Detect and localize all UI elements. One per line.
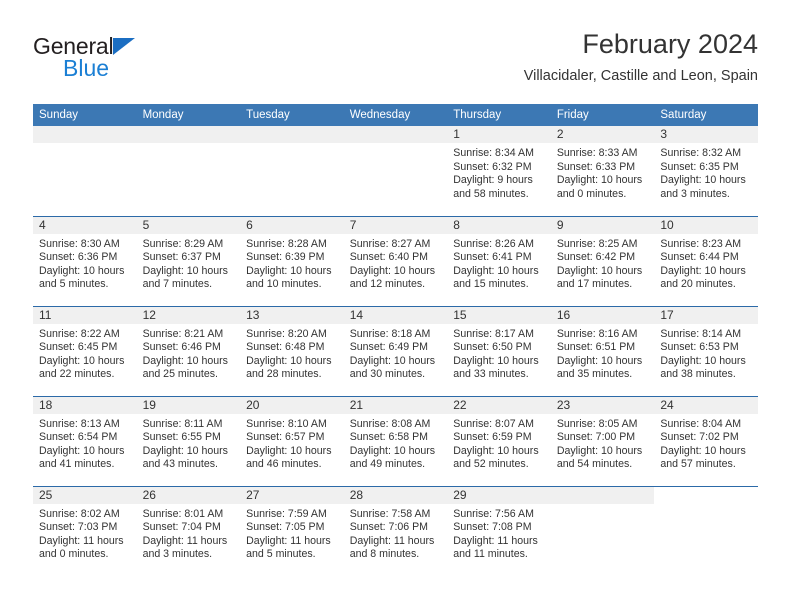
- daylight-text-line1: Daylight: 10 hours: [246, 355, 339, 369]
- sunset-text: Sunset: 7:02 PM: [660, 431, 753, 445]
- calendar-day-cell[interactable]: 17Sunrise: 8:14 AMSunset: 6:53 PMDayligh…: [654, 306, 758, 396]
- sunrise-text: Sunrise: 7:56 AM: [453, 508, 546, 522]
- sunrise-text: Sunrise: 8:16 AM: [557, 328, 650, 342]
- daylight-text-line1: Daylight: 10 hours: [350, 355, 443, 369]
- daylight-text-line1: Daylight: 11 hours: [453, 535, 546, 549]
- day-number: 10: [654, 217, 758, 234]
- sunrise-text: Sunrise: 7:59 AM: [246, 508, 339, 522]
- calendar-day-cell[interactable]: 5Sunrise: 8:29 AMSunset: 6:37 PMDaylight…: [137, 216, 241, 306]
- day-number: 21: [344, 397, 448, 414]
- weekday-header-wednesday: Wednesday: [344, 104, 448, 126]
- sunrise-text: Sunrise: 8:34 AM: [453, 147, 546, 161]
- calendar-day-cell[interactable]: 27Sunrise: 7:59 AMSunset: 7:05 PMDayligh…: [240, 486, 344, 576]
- day-number: 15: [447, 307, 551, 324]
- daylight-text-line2: and 33 minutes.: [453, 368, 546, 382]
- daylight-text-line1: Daylight: 10 hours: [143, 265, 236, 279]
- sunset-text: Sunset: 6:35 PM: [660, 161, 753, 175]
- sunset-text: Sunset: 6:32 PM: [453, 161, 546, 175]
- daylight-text-line1: Daylight: 10 hours: [557, 355, 650, 369]
- daylight-text-line1: Daylight: 10 hours: [453, 355, 546, 369]
- daylight-text-line1: Daylight: 10 hours: [660, 355, 753, 369]
- day-info: Sunrise: 7:58 AMSunset: 7:06 PMDaylight:…: [344, 504, 448, 562]
- day-number: [344, 126, 448, 143]
- day-info: Sunrise: 8:22 AMSunset: 6:45 PMDaylight:…: [33, 324, 137, 382]
- daylight-text-line2: and 35 minutes.: [557, 368, 650, 382]
- sunrise-text: Sunrise: 8:27 AM: [350, 238, 443, 252]
- daylight-text-line2: and 8 minutes.: [350, 548, 443, 562]
- page-subtitle: Villacidaler, Castille and Leon, Spain: [524, 66, 758, 86]
- day-info: Sunrise: 8:21 AMSunset: 6:46 PMDaylight:…: [137, 324, 241, 382]
- weekday-header-thursday: Thursday: [447, 104, 551, 126]
- daylight-text-line2: and 5 minutes.: [39, 278, 132, 292]
- daylight-text-line1: Daylight: 10 hours: [453, 265, 546, 279]
- sunset-text: Sunset: 6:33 PM: [557, 161, 650, 175]
- sunset-text: Sunset: 7:06 PM: [350, 521, 443, 535]
- daylight-text-line1: Daylight: 10 hours: [246, 265, 339, 279]
- day-number: 20: [240, 397, 344, 414]
- sunrise-text: Sunrise: 8:05 AM: [557, 418, 650, 432]
- calendar-week-row: 25Sunrise: 8:02 AMSunset: 7:03 PMDayligh…: [33, 486, 758, 576]
- calendar-day-cell[interactable]: 9Sunrise: 8:25 AMSunset: 6:42 PMDaylight…: [551, 216, 655, 306]
- calendar-day-cell[interactable]: 3Sunrise: 8:32 AMSunset: 6:35 PMDaylight…: [654, 126, 758, 216]
- sunset-text: Sunset: 6:41 PM: [453, 251, 546, 265]
- calendar-day-cell[interactable]: 12Sunrise: 8:21 AMSunset: 6:46 PMDayligh…: [137, 306, 241, 396]
- day-number: 6: [240, 217, 344, 234]
- daylight-text-line2: and 17 minutes.: [557, 278, 650, 292]
- daylight-text-line2: and 25 minutes.: [143, 368, 236, 382]
- daylight-text-line2: and 3 minutes.: [143, 548, 236, 562]
- day-info: Sunrise: 8:02 AMSunset: 7:03 PMDaylight:…: [33, 504, 137, 562]
- daylight-text-line2: and 3 minutes.: [660, 188, 753, 202]
- sunset-text: Sunset: 6:39 PM: [246, 251, 339, 265]
- sunset-text: Sunset: 6:54 PM: [39, 431, 132, 445]
- sunrise-text: Sunrise: 8:26 AM: [453, 238, 546, 252]
- day-number: 24: [654, 397, 758, 414]
- daylight-text-line1: Daylight: 10 hours: [39, 445, 132, 459]
- day-info: Sunrise: 8:11 AMSunset: 6:55 PMDaylight:…: [137, 414, 241, 472]
- day-info: Sunrise: 8:17 AMSunset: 6:50 PMDaylight:…: [447, 324, 551, 382]
- sunrise-text: Sunrise: 8:29 AM: [143, 238, 236, 252]
- page-title: February 2024: [524, 28, 758, 60]
- daylight-text-line2: and 57 minutes.: [660, 458, 753, 472]
- daylight-text-line1: Daylight: 10 hours: [557, 174, 650, 188]
- daylight-text-line1: Daylight: 11 hours: [350, 535, 443, 549]
- day-number: 12: [137, 307, 241, 324]
- day-number: 25: [33, 487, 137, 504]
- day-info: Sunrise: 7:56 AMSunset: 7:08 PMDaylight:…: [447, 504, 551, 562]
- day-info: Sunrise: 8:25 AMSunset: 6:42 PMDaylight:…: [551, 234, 655, 292]
- calendar-week-row: 18Sunrise: 8:13 AMSunset: 6:54 PMDayligh…: [33, 396, 758, 486]
- sunrise-text: Sunrise: 8:14 AM: [660, 328, 753, 342]
- daylight-text-line2: and 28 minutes.: [246, 368, 339, 382]
- sunset-text: Sunset: 7:00 PM: [557, 431, 650, 445]
- title-block: February 2024 Villacidaler, Castille and…: [524, 28, 758, 86]
- daylight-text-line1: Daylight: 10 hours: [143, 445, 236, 459]
- calendar-day-cell[interactable]: 15Sunrise: 8:17 AMSunset: 6:50 PMDayligh…: [447, 306, 551, 396]
- daylight-text-line1: Daylight: 10 hours: [143, 355, 236, 369]
- day-number: 4: [33, 217, 137, 234]
- calendar-day-cell[interactable]: 8Sunrise: 8:26 AMSunset: 6:41 PMDaylight…: [447, 216, 551, 306]
- day-info: Sunrise: 8:14 AMSunset: 6:53 PMDaylight:…: [654, 324, 758, 382]
- day-info: Sunrise: 8:10 AMSunset: 6:57 PMDaylight:…: [240, 414, 344, 472]
- day-number: 9: [551, 217, 655, 234]
- sunset-text: Sunset: 6:46 PM: [143, 341, 236, 355]
- day-number: 14: [344, 307, 448, 324]
- daylight-text-line1: Daylight: 11 hours: [39, 535, 132, 549]
- sunset-text: Sunset: 6:48 PM: [246, 341, 339, 355]
- daylight-text-line2: and 38 minutes.: [660, 368, 753, 382]
- daylight-text-line2: and 7 minutes.: [143, 278, 236, 292]
- day-number: 27: [240, 487, 344, 504]
- calendar-day-cell[interactable]: 11Sunrise: 8:22 AMSunset: 6:45 PMDayligh…: [33, 306, 137, 396]
- calendar-page: General Blue February 2024 Villacidaler,…: [0, 0, 792, 612]
- daylight-text-line1: Daylight: 10 hours: [350, 265, 443, 279]
- daylight-text-line2: and 52 minutes.: [453, 458, 546, 472]
- daylight-text-line2: and 10 minutes.: [246, 278, 339, 292]
- calendar-day-cell[interactable]: 6Sunrise: 8:28 AMSunset: 6:39 PMDaylight…: [240, 216, 344, 306]
- calendar-day-cell[interactable]: 10Sunrise: 8:23 AMSunset: 6:44 PMDayligh…: [654, 216, 758, 306]
- sunrise-text: Sunrise: 8:21 AM: [143, 328, 236, 342]
- day-info: Sunrise: 8:05 AMSunset: 7:00 PMDaylight:…: [551, 414, 655, 472]
- day-number: 16: [551, 307, 655, 324]
- daylight-text-line2: and 46 minutes.: [246, 458, 339, 472]
- logo-triangle-icon: [113, 38, 135, 55]
- daylight-text-line2: and 30 minutes.: [350, 368, 443, 382]
- logo-text-blue: Blue: [63, 56, 203, 80]
- day-number: 11: [33, 307, 137, 324]
- daylight-text-line2: and 49 minutes.: [350, 458, 443, 472]
- daylight-text-line2: and 54 minutes.: [557, 458, 650, 472]
- day-info: Sunrise: 8:01 AMSunset: 7:04 PMDaylight:…: [137, 504, 241, 562]
- general-blue-logo: General Blue: [33, 34, 203, 86]
- sunset-text: Sunset: 6:57 PM: [246, 431, 339, 445]
- page-header: General Blue February 2024 Villacidaler,…: [33, 28, 758, 96]
- day-info: Sunrise: 8:07 AMSunset: 6:59 PMDaylight:…: [447, 414, 551, 472]
- calendar-day-cell[interactable]: 29Sunrise: 7:56 AMSunset: 7:08 PMDayligh…: [447, 486, 551, 576]
- day-number: 26: [137, 487, 241, 504]
- sunrise-text: Sunrise: 8:30 AM: [39, 238, 132, 252]
- weekday-header-sunday: Sunday: [33, 104, 137, 126]
- daylight-text-line2: and 58 minutes.: [453, 188, 546, 202]
- sunset-text: Sunset: 7:05 PM: [246, 521, 339, 535]
- sunrise-text: Sunrise: 8:11 AM: [143, 418, 236, 432]
- day-number: [551, 487, 655, 504]
- calendar-day-cell[interactable]: 2Sunrise: 8:33 AMSunset: 6:33 PMDaylight…: [551, 126, 655, 216]
- day-info: Sunrise: 8:29 AMSunset: 6:37 PMDaylight:…: [137, 234, 241, 292]
- day-number: 28: [344, 487, 448, 504]
- daylight-text-line1: Daylight: 11 hours: [143, 535, 236, 549]
- sunrise-text: Sunrise: 8:20 AM: [246, 328, 339, 342]
- daylight-text-line1: Daylight: 10 hours: [453, 445, 546, 459]
- day-number: 7: [344, 217, 448, 234]
- calendar-day-cell[interactable]: 26Sunrise: 8:01 AMSunset: 7:04 PMDayligh…: [137, 486, 241, 576]
- calendar-day-cell[interactable]: 23Sunrise: 8:05 AMSunset: 7:00 PMDayligh…: [551, 396, 655, 486]
- calendar-day-cell[interactable]: 4Sunrise: 8:30 AMSunset: 6:36 PMDaylight…: [33, 216, 137, 306]
- day-number: 13: [240, 307, 344, 324]
- day-number: 2: [551, 126, 655, 143]
- daylight-text-line2: and 12 minutes.: [350, 278, 443, 292]
- daylight-text-line2: and 11 minutes.: [453, 548, 546, 562]
- day-number: [33, 126, 137, 143]
- calendar-day-cell[interactable]: 18Sunrise: 8:13 AMSunset: 6:54 PMDayligh…: [33, 396, 137, 486]
- sunrise-text: Sunrise: 8:22 AM: [39, 328, 132, 342]
- sunset-text: Sunset: 7:08 PM: [453, 521, 546, 535]
- calendar-day-cell[interactable]: 28Sunrise: 7:58 AMSunset: 7:06 PMDayligh…: [344, 486, 448, 576]
- calendar-day-cell[interactable]: 25Sunrise: 8:02 AMSunset: 7:03 PMDayligh…: [33, 486, 137, 576]
- daylight-text-line2: and 22 minutes.: [39, 368, 132, 382]
- day-number: 22: [447, 397, 551, 414]
- day-number: 17: [654, 307, 758, 324]
- sunrise-text: Sunrise: 8:07 AM: [453, 418, 546, 432]
- calendar-week-row: 4Sunrise: 8:30 AMSunset: 6:36 PMDaylight…: [33, 216, 758, 306]
- daylight-text-line2: and 15 minutes.: [453, 278, 546, 292]
- daylight-text-line1: Daylight: 10 hours: [246, 445, 339, 459]
- sunset-text: Sunset: 6:53 PM: [660, 341, 753, 355]
- day-number: 8: [447, 217, 551, 234]
- day-number: 19: [137, 397, 241, 414]
- weekday-header-tuesday: Tuesday: [240, 104, 344, 126]
- daylight-text-line2: and 0 minutes.: [557, 188, 650, 202]
- sunset-text: Sunset: 6:49 PM: [350, 341, 443, 355]
- day-number: [137, 126, 241, 143]
- calendar-day-cell[interactable]: 24Sunrise: 8:04 AMSunset: 7:02 PMDayligh…: [654, 396, 758, 486]
- daylight-text-line1: Daylight: 10 hours: [39, 265, 132, 279]
- day-info: Sunrise: 8:28 AMSunset: 6:39 PMDaylight:…: [240, 234, 344, 292]
- sunrise-text: Sunrise: 8:01 AM: [143, 508, 236, 522]
- sunset-text: Sunset: 6:59 PM: [453, 431, 546, 445]
- day-info: Sunrise: 8:20 AMSunset: 6:48 PMDaylight:…: [240, 324, 344, 382]
- day-number: 5: [137, 217, 241, 234]
- day-info: Sunrise: 8:23 AMSunset: 6:44 PMDaylight:…: [654, 234, 758, 292]
- daylight-text-line1: Daylight: 10 hours: [39, 355, 132, 369]
- calendar-empty-cell: [344, 126, 448, 216]
- day-info: Sunrise: 8:30 AMSunset: 6:36 PMDaylight:…: [33, 234, 137, 292]
- sunset-text: Sunset: 6:51 PM: [557, 341, 650, 355]
- sunrise-text: Sunrise: 8:32 AM: [660, 147, 753, 161]
- calendar-empty-cell: [137, 126, 241, 216]
- sunset-text: Sunset: 6:42 PM: [557, 251, 650, 265]
- sunrise-text: Sunrise: 7:58 AM: [350, 508, 443, 522]
- day-number: 1: [447, 126, 551, 143]
- calendar-table: Sunday Monday Tuesday Wednesday Thursday…: [33, 104, 758, 576]
- sunset-text: Sunset: 6:50 PM: [453, 341, 546, 355]
- sunrise-text: Sunrise: 8:17 AM: [453, 328, 546, 342]
- calendar-day-cell[interactable]: 22Sunrise: 8:07 AMSunset: 6:59 PMDayligh…: [447, 396, 551, 486]
- daylight-text-line2: and 20 minutes.: [660, 278, 753, 292]
- calendar-day-cell[interactable]: 14Sunrise: 8:18 AMSunset: 6:49 PMDayligh…: [344, 306, 448, 396]
- sunset-text: Sunset: 6:45 PM: [39, 341, 132, 355]
- daylight-text-line2: and 41 minutes.: [39, 458, 132, 472]
- day-info: Sunrise: 8:27 AMSunset: 6:40 PMDaylight:…: [344, 234, 448, 292]
- calendar-day-cell[interactable]: 19Sunrise: 8:11 AMSunset: 6:55 PMDayligh…: [137, 396, 241, 486]
- sunrise-text: Sunrise: 8:23 AM: [660, 238, 753, 252]
- weekday-header-saturday: Saturday: [654, 104, 758, 126]
- sunrise-text: Sunrise: 8:13 AM: [39, 418, 132, 432]
- calendar-day-cell[interactable]: 13Sunrise: 8:20 AMSunset: 6:48 PMDayligh…: [240, 306, 344, 396]
- day-number: 23: [551, 397, 655, 414]
- daylight-text-line1: Daylight: 10 hours: [660, 265, 753, 279]
- sunset-text: Sunset: 6:36 PM: [39, 251, 132, 265]
- calendar-empty-cell: [551, 486, 655, 576]
- sunset-text: Sunset: 6:44 PM: [660, 251, 753, 265]
- daylight-text-line1: Daylight: 10 hours: [557, 265, 650, 279]
- calendar-empty-cell: [240, 126, 344, 216]
- calendar-day-cell[interactable]: 21Sunrise: 8:08 AMSunset: 6:58 PMDayligh…: [344, 396, 448, 486]
- day-number: 3: [654, 126, 758, 143]
- day-info: Sunrise: 8:18 AMSunset: 6:49 PMDaylight:…: [344, 324, 448, 382]
- daylight-text-line1: Daylight: 10 hours: [557, 445, 650, 459]
- calendar-empty-cell: [654, 486, 758, 576]
- calendar-empty-cell: [33, 126, 137, 216]
- calendar-day-cell[interactable]: 20Sunrise: 8:10 AMSunset: 6:57 PMDayligh…: [240, 396, 344, 486]
- day-info: Sunrise: 8:32 AMSunset: 6:35 PMDaylight:…: [654, 143, 758, 201]
- sunset-text: Sunset: 6:55 PM: [143, 431, 236, 445]
- sunset-text: Sunset: 6:37 PM: [143, 251, 236, 265]
- day-info: Sunrise: 8:26 AMSunset: 6:41 PMDaylight:…: [447, 234, 551, 292]
- calendar-day-cell[interactable]: 1Sunrise: 8:34 AMSunset: 6:32 PMDaylight…: [447, 126, 551, 216]
- weekday-header-friday: Friday: [551, 104, 655, 126]
- sunset-text: Sunset: 6:58 PM: [350, 431, 443, 445]
- day-number: 18: [33, 397, 137, 414]
- day-info: Sunrise: 7:59 AMSunset: 7:05 PMDaylight:…: [240, 504, 344, 562]
- daylight-text-line1: Daylight: 10 hours: [660, 174, 753, 188]
- weekday-header-monday: Monday: [137, 104, 241, 126]
- day-info: Sunrise: 8:04 AMSunset: 7:02 PMDaylight:…: [654, 414, 758, 472]
- daylight-text-line1: Daylight: 11 hours: [246, 535, 339, 549]
- daylight-text-line1: Daylight: 10 hours: [660, 445, 753, 459]
- day-number: [240, 126, 344, 143]
- sunrise-text: Sunrise: 8:25 AM: [557, 238, 650, 252]
- calendar-body: 1Sunrise: 8:34 AMSunset: 6:32 PMDaylight…: [33, 126, 758, 576]
- daylight-text-line2: and 43 minutes.: [143, 458, 236, 472]
- calendar-week-row: 1Sunrise: 8:34 AMSunset: 6:32 PMDaylight…: [33, 126, 758, 216]
- day-info: Sunrise: 8:34 AMSunset: 6:32 PMDaylight:…: [447, 143, 551, 201]
- day-info: Sunrise: 8:08 AMSunset: 6:58 PMDaylight:…: [344, 414, 448, 472]
- sunrise-text: Sunrise: 8:02 AM: [39, 508, 132, 522]
- sunrise-text: Sunrise: 8:18 AM: [350, 328, 443, 342]
- day-number: 29: [447, 487, 551, 504]
- daylight-text-line1: Daylight: 10 hours: [350, 445, 443, 459]
- calendar-day-cell[interactable]: 7Sunrise: 8:27 AMSunset: 6:40 PMDaylight…: [344, 216, 448, 306]
- day-info: Sunrise: 8:16 AMSunset: 6:51 PMDaylight:…: [551, 324, 655, 382]
- day-number: [654, 487, 758, 504]
- day-info: Sunrise: 8:13 AMSunset: 6:54 PMDaylight:…: [33, 414, 137, 472]
- daylight-text-line1: Daylight: 9 hours: [453, 174, 546, 188]
- calendar-week-row: 11Sunrise: 8:22 AMSunset: 6:45 PMDayligh…: [33, 306, 758, 396]
- sunrise-text: Sunrise: 8:28 AM: [246, 238, 339, 252]
- sunset-text: Sunset: 6:40 PM: [350, 251, 443, 265]
- sunrise-text: Sunrise: 8:04 AM: [660, 418, 753, 432]
- day-info: Sunrise: 8:33 AMSunset: 6:33 PMDaylight:…: [551, 143, 655, 201]
- sunrise-text: Sunrise: 8:08 AM: [350, 418, 443, 432]
- daylight-text-line2: and 0 minutes.: [39, 548, 132, 562]
- calendar-day-cell[interactable]: 16Sunrise: 8:16 AMSunset: 6:51 PMDayligh…: [551, 306, 655, 396]
- sunrise-text: Sunrise: 8:33 AM: [557, 147, 650, 161]
- daylight-text-line2: and 5 minutes.: [246, 548, 339, 562]
- sunset-text: Sunset: 7:04 PM: [143, 521, 236, 535]
- calendar-header-row: Sunday Monday Tuesday Wednesday Thursday…: [33, 104, 758, 126]
- sunset-text: Sunset: 7:03 PM: [39, 521, 132, 535]
- sunrise-text: Sunrise: 8:10 AM: [246, 418, 339, 432]
